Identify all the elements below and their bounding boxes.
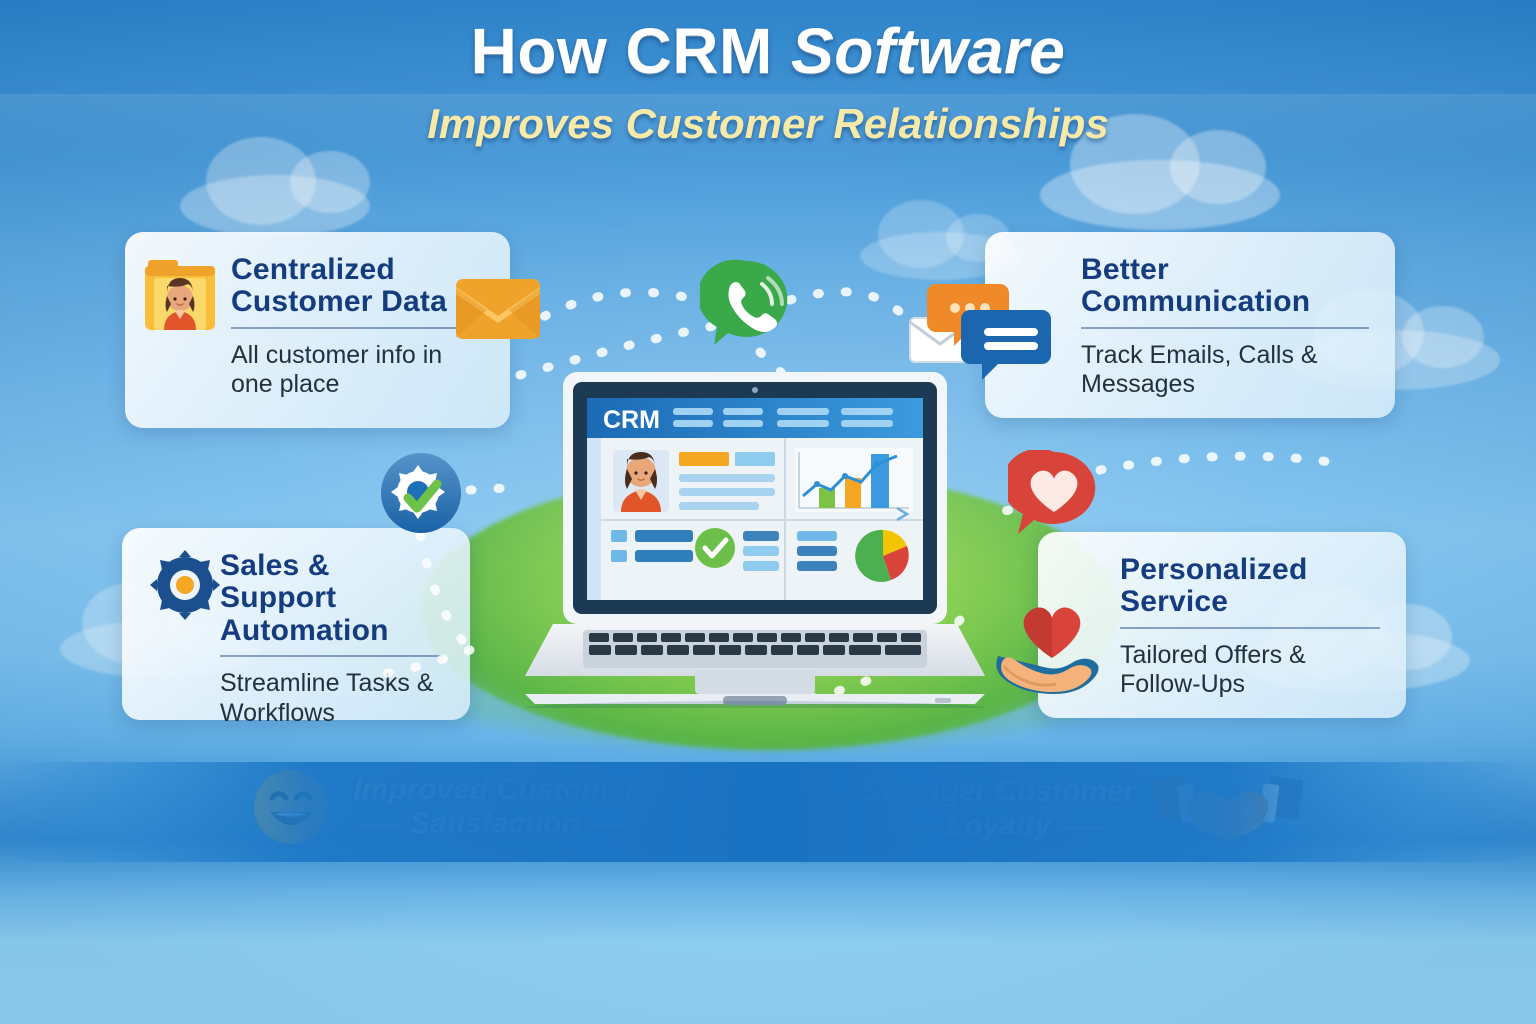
- title-word-crm: CRM: [626, 15, 773, 87]
- cloud-decoration: [1040, 160, 1280, 230]
- card-headline: Better Communication: [1081, 254, 1369, 319]
- connector-heart-to-card2: [1100, 456, 1330, 470]
- card-divider: [1120, 627, 1380, 629]
- gear-icon: [148, 548, 222, 622]
- card-headline: Sales & Support Automation: [220, 550, 444, 647]
- card-body: Track Emails, Calls & Messages: [1081, 341, 1369, 400]
- card-headline: Personalized Service: [1120, 554, 1380, 619]
- gear-check-icon: [380, 452, 462, 534]
- crm-app-label: CRM: [603, 406, 660, 434]
- card-divider: [220, 655, 444, 657]
- card-body: Tailored Offers & Follow-Ups: [1120, 641, 1380, 700]
- connector-email-to-phone: [520, 292, 706, 330]
- infographic-canvas: How CRM Software Improves Customer Relat…: [0, 0, 1536, 1024]
- folder-person-icon: [142, 252, 218, 334]
- laptop-illustration: CRM: [505, 368, 1005, 708]
- title-word-software: Software: [791, 15, 1065, 87]
- title-block: How CRM Software Improves Customer Relat…: [0, 0, 1536, 158]
- page-subtitle: Improves Customer Relationships: [0, 100, 1536, 148]
- subtitle-band: Improves Customer Relationships: [0, 94, 1536, 158]
- card-divider: [1081, 327, 1369, 329]
- card-headline: Centralized Customer Data: [231, 254, 484, 319]
- card-body: All customer info in one place: [231, 341, 484, 400]
- chat-bubbles-icon: [908, 280, 1056, 380]
- envelope-icon: [455, 278, 541, 340]
- heart-bubble-icon: [1008, 450, 1100, 536]
- hand-heart-icon: [990, 600, 1116, 696]
- card-body: Streamline Tasks & Workflows: [220, 669, 444, 728]
- outcomes-banner: [0, 762, 1536, 862]
- title-word-how: How: [471, 15, 608, 87]
- page-title: How CRM Software: [0, 14, 1536, 88]
- connector-phone-to-chat: [790, 292, 910, 322]
- phone-bubble-icon: [700, 258, 792, 350]
- card-divider: [231, 327, 484, 329]
- cloud-decoration: [180, 175, 370, 237]
